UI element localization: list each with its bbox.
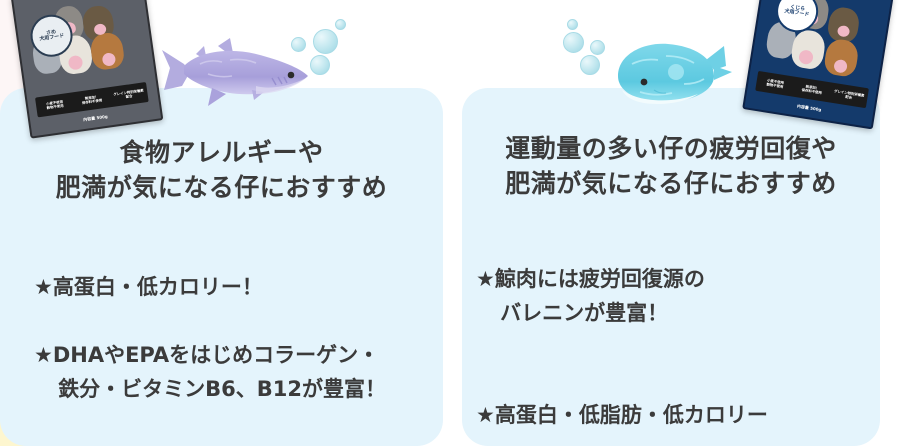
whale-illustration [610,32,735,112]
bubble-icon [335,19,346,30]
whale-card: 運動量の多い仔の疲労回復や 肥満が気になる仔におすすめ ★鯨肉には疲労回復源の … [462,88,880,446]
bubble-icon [590,40,605,55]
package-badge: 無添加！ 保存料不使用 [794,83,831,97]
shark-card-heading: 食物アレルギーや 肥満が気になる仔におすすめ [0,136,443,205]
whale-card-heading: 運動量の多い仔の疲労回復や 肥満が気になる仔におすすめ [462,132,880,201]
list-item: ★DHA＆EPA＆DPA、コラーゲン・ 鉄分・ビタミンB6、B12が豊富！ [476,432,828,446]
list-item: ★高蛋白・低脂肪・低カロリー [476,364,828,432]
bullet-text-continued: バレニンが豊富！ [476,296,828,330]
package-badge: 小麦不使用 穀物不使用 [757,77,794,91]
dog-food-package-whale[interactable]: くじら くじら 犬用フード 小麦不使用 穀物不使用 無添加！ 保存料不使用 グレ… [742,0,894,129]
dog-food-package-shark[interactable]: さめ さめ 犬用フード 小麦不使用 穀物不使用 無添加！ 保存料不使用 グレイン… [11,0,164,139]
list-item: ★高蛋白・低カロリー！ [34,236,386,304]
bullet-text: ★鯨肉には疲労回復源の [476,267,705,291]
bullet-text: ★高蛋白・低脂肪・低カロリー [476,403,768,427]
bubble-icon [567,19,578,30]
bubble-icon [313,29,338,54]
bullet-text: ★DHAやEPAをはじめコラーゲン・ [34,343,379,367]
package-badge: 小麦不使用 穀物不使用 [37,98,74,111]
bubble-icon [580,55,600,75]
bubble-icon [291,37,306,52]
list-item: ★鯨肉には疲労回復源の バレニンが豊富！ [476,228,828,364]
page-root: 食物アレルギーや 肥満が気になる仔におすすめ ★高蛋白・低カロリー！ ★DHAや… [0,0,900,446]
package-badge: グレイン特別栄養素 配合 [831,88,868,102]
shark-card-bullets: ★高蛋白・低カロリー！ ★DHAやEPAをはじめコラーゲン・ 鉄分・ビタミンB6… [34,236,386,440]
bubble-icon [310,55,330,75]
whale-card-bullets: ★鯨肉には疲労回復源の バレニンが豊富！ ★高蛋白・低脂肪・低カロリー ★DHA… [476,228,828,446]
shark-card: 食物アレルギーや 肥満が気になる仔におすすめ ★高蛋白・低カロリー！ ★DHAや… [0,88,443,446]
package-badge: 無添加！ 保存料不使用 [74,93,111,106]
bullet-text: ★高蛋白・低カロリー！ [34,275,263,299]
package-badge: グレイン特別栄養素 配合 [110,88,147,101]
bullet-text-continued: 鉄分・ビタミンB6、B12が豊富！ [34,372,386,406]
list-item: ★DHAやEPAをはじめコラーゲン・ 鉄分・ビタミンB6、B12が豊富！ [34,304,386,440]
bubble-icon [563,32,584,53]
